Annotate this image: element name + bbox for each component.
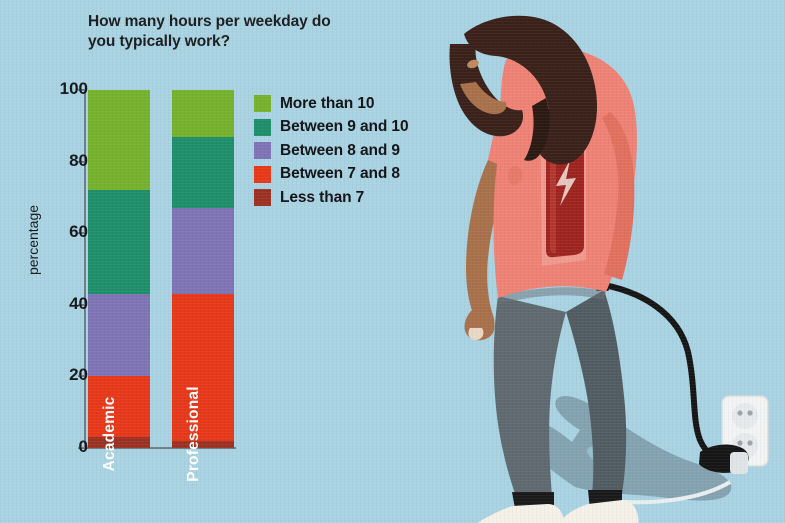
- chart-title-line-2: you typically work?: [88, 32, 388, 52]
- bar-segment-3[interactable]: [88, 376, 150, 437]
- y-axis-ticks: 100806040200: [0, 0, 88, 523]
- y-tick-label-20: 20: [42, 365, 88, 385]
- y-tick-label-80: 80: [42, 151, 88, 171]
- illustration-person-charging: [400, 0, 785, 523]
- y-tick-label-60: 60: [42, 222, 88, 242]
- chart-panel: How many hours per weekday do you typica…: [0, 0, 445, 523]
- bar-segment-4[interactable]: [172, 441, 234, 448]
- legend-swatch-1: [254, 119, 271, 136]
- chart-legend: More than 10Between 9 and 10Between 8 an…: [254, 92, 408, 210]
- legend-label-1: Between 9 and 10: [280, 118, 408, 136]
- legend-label-0: More than 10: [280, 95, 374, 113]
- y-tick-label-100: 100: [42, 79, 88, 99]
- legend-swatch-3: [254, 166, 271, 183]
- legend-item-1[interactable]: Between 9 and 10: [254, 116, 408, 140]
- bar-segment-0[interactable]: [88, 90, 150, 190]
- legend-item-0[interactable]: More than 10: [254, 92, 408, 116]
- bar-academic[interactable]: Academic: [88, 90, 150, 448]
- bar-label-academic: Academic: [101, 397, 119, 472]
- chart-title: How many hours per weekday do you typica…: [88, 12, 388, 52]
- legend-label-3: Between 7 and 8: [280, 165, 400, 183]
- plot-area: AcademicProfessional: [88, 90, 248, 448]
- bar-segment-2[interactable]: [172, 208, 234, 294]
- legend-swatch-4: [254, 189, 271, 206]
- legend-swatch-2: [254, 142, 271, 159]
- legend-item-4[interactable]: Less than 7: [254, 186, 408, 210]
- bar-segment-0[interactable]: [172, 90, 234, 137]
- bar-professional[interactable]: Professional: [172, 90, 234, 448]
- chart-title-line-1: How many hours per weekday do: [88, 12, 388, 32]
- infographic-canvas: How many hours per weekday do you typica…: [0, 0, 785, 523]
- legend-label-2: Between 8 and 9: [280, 142, 400, 160]
- sneaker: [471, 500, 639, 523]
- y-tick-label-0: 0: [42, 437, 88, 457]
- y-tick-label-40: 40: [42, 294, 88, 314]
- legend-swatch-0: [254, 95, 271, 112]
- bar-label-professional: Professional: [185, 386, 203, 481]
- legend-label-4: Less than 7: [280, 189, 364, 207]
- bar-segment-2[interactable]: [88, 294, 150, 376]
- legend-item-2[interactable]: Between 8 and 9: [254, 139, 408, 163]
- legend-item-3[interactable]: Between 7 and 8: [254, 163, 408, 187]
- bar-segment-3[interactable]: [172, 294, 234, 441]
- bar-segment-4[interactable]: [88, 437, 150, 448]
- bar-segment-1[interactable]: [88, 190, 150, 294]
- bar-segment-1[interactable]: [172, 137, 234, 209]
